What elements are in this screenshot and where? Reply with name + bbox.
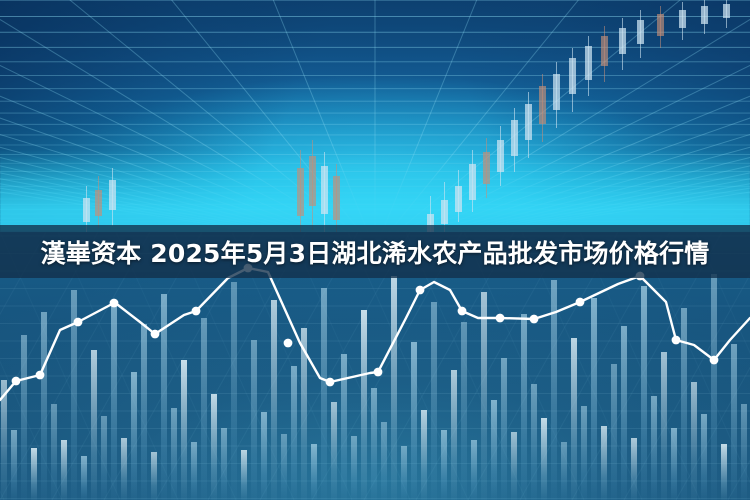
candlestick-wick bbox=[98, 176, 99, 228]
data-point-marker bbox=[151, 330, 160, 339]
candlestick-wick bbox=[486, 138, 487, 198]
data-point-marker bbox=[458, 307, 467, 316]
candlestick-wick bbox=[472, 150, 473, 212]
candlestick-wick bbox=[458, 170, 459, 222]
data-point-marker bbox=[672, 336, 681, 345]
data-point-marker bbox=[710, 356, 719, 365]
data-point-marker bbox=[12, 377, 21, 386]
data-point-marker bbox=[36, 371, 45, 380]
candlestick-wick bbox=[682, 2, 683, 40]
data-point-marker bbox=[530, 315, 539, 324]
candlestick-wick bbox=[300, 150, 301, 232]
candlestick-wick bbox=[604, 26, 605, 82]
candlestick-wick bbox=[588, 36, 589, 96]
candlestick-wick bbox=[660, 6, 661, 48]
candlestick-wick bbox=[324, 152, 325, 232]
data-point-marker bbox=[416, 286, 425, 295]
data-point-marker bbox=[326, 378, 335, 387]
data-point-marker bbox=[192, 307, 201, 316]
candlestick-wick bbox=[640, 10, 641, 58]
trend-polyline bbox=[0, 268, 750, 400]
data-point-marker bbox=[576, 298, 585, 307]
page-title: 漢崋资本 2025年5月3日湖北浠水农产品批发市场价格行情 bbox=[0, 225, 750, 278]
candlestick-wick bbox=[726, 0, 727, 28]
candlestick-wick bbox=[542, 74, 543, 142]
data-point-marker bbox=[74, 318, 83, 327]
candlestick-wick bbox=[556, 62, 557, 128]
candlestick-wick bbox=[622, 18, 623, 70]
candlestick-chart bbox=[0, 0, 750, 250]
candlestick-wick bbox=[500, 126, 501, 186]
trend-markers bbox=[12, 264, 719, 387]
data-point-marker bbox=[110, 299, 119, 308]
candlestick-wick bbox=[528, 92, 529, 158]
candlestick-wick bbox=[572, 48, 573, 112]
candlestick-wick bbox=[312, 140, 313, 230]
candlestick-wick bbox=[336, 164, 337, 232]
banner-image: 漢崋资本 2025年5月3日湖北浠水农产品批发市场价格行情 bbox=[0, 0, 750, 500]
data-point-marker bbox=[496, 314, 505, 323]
candlestick-wick bbox=[704, 0, 705, 34]
candlestick-wick bbox=[112, 168, 113, 226]
data-point-marker bbox=[284, 339, 293, 348]
data-point-marker bbox=[374, 368, 383, 377]
candlestick-wick bbox=[514, 108, 515, 172]
